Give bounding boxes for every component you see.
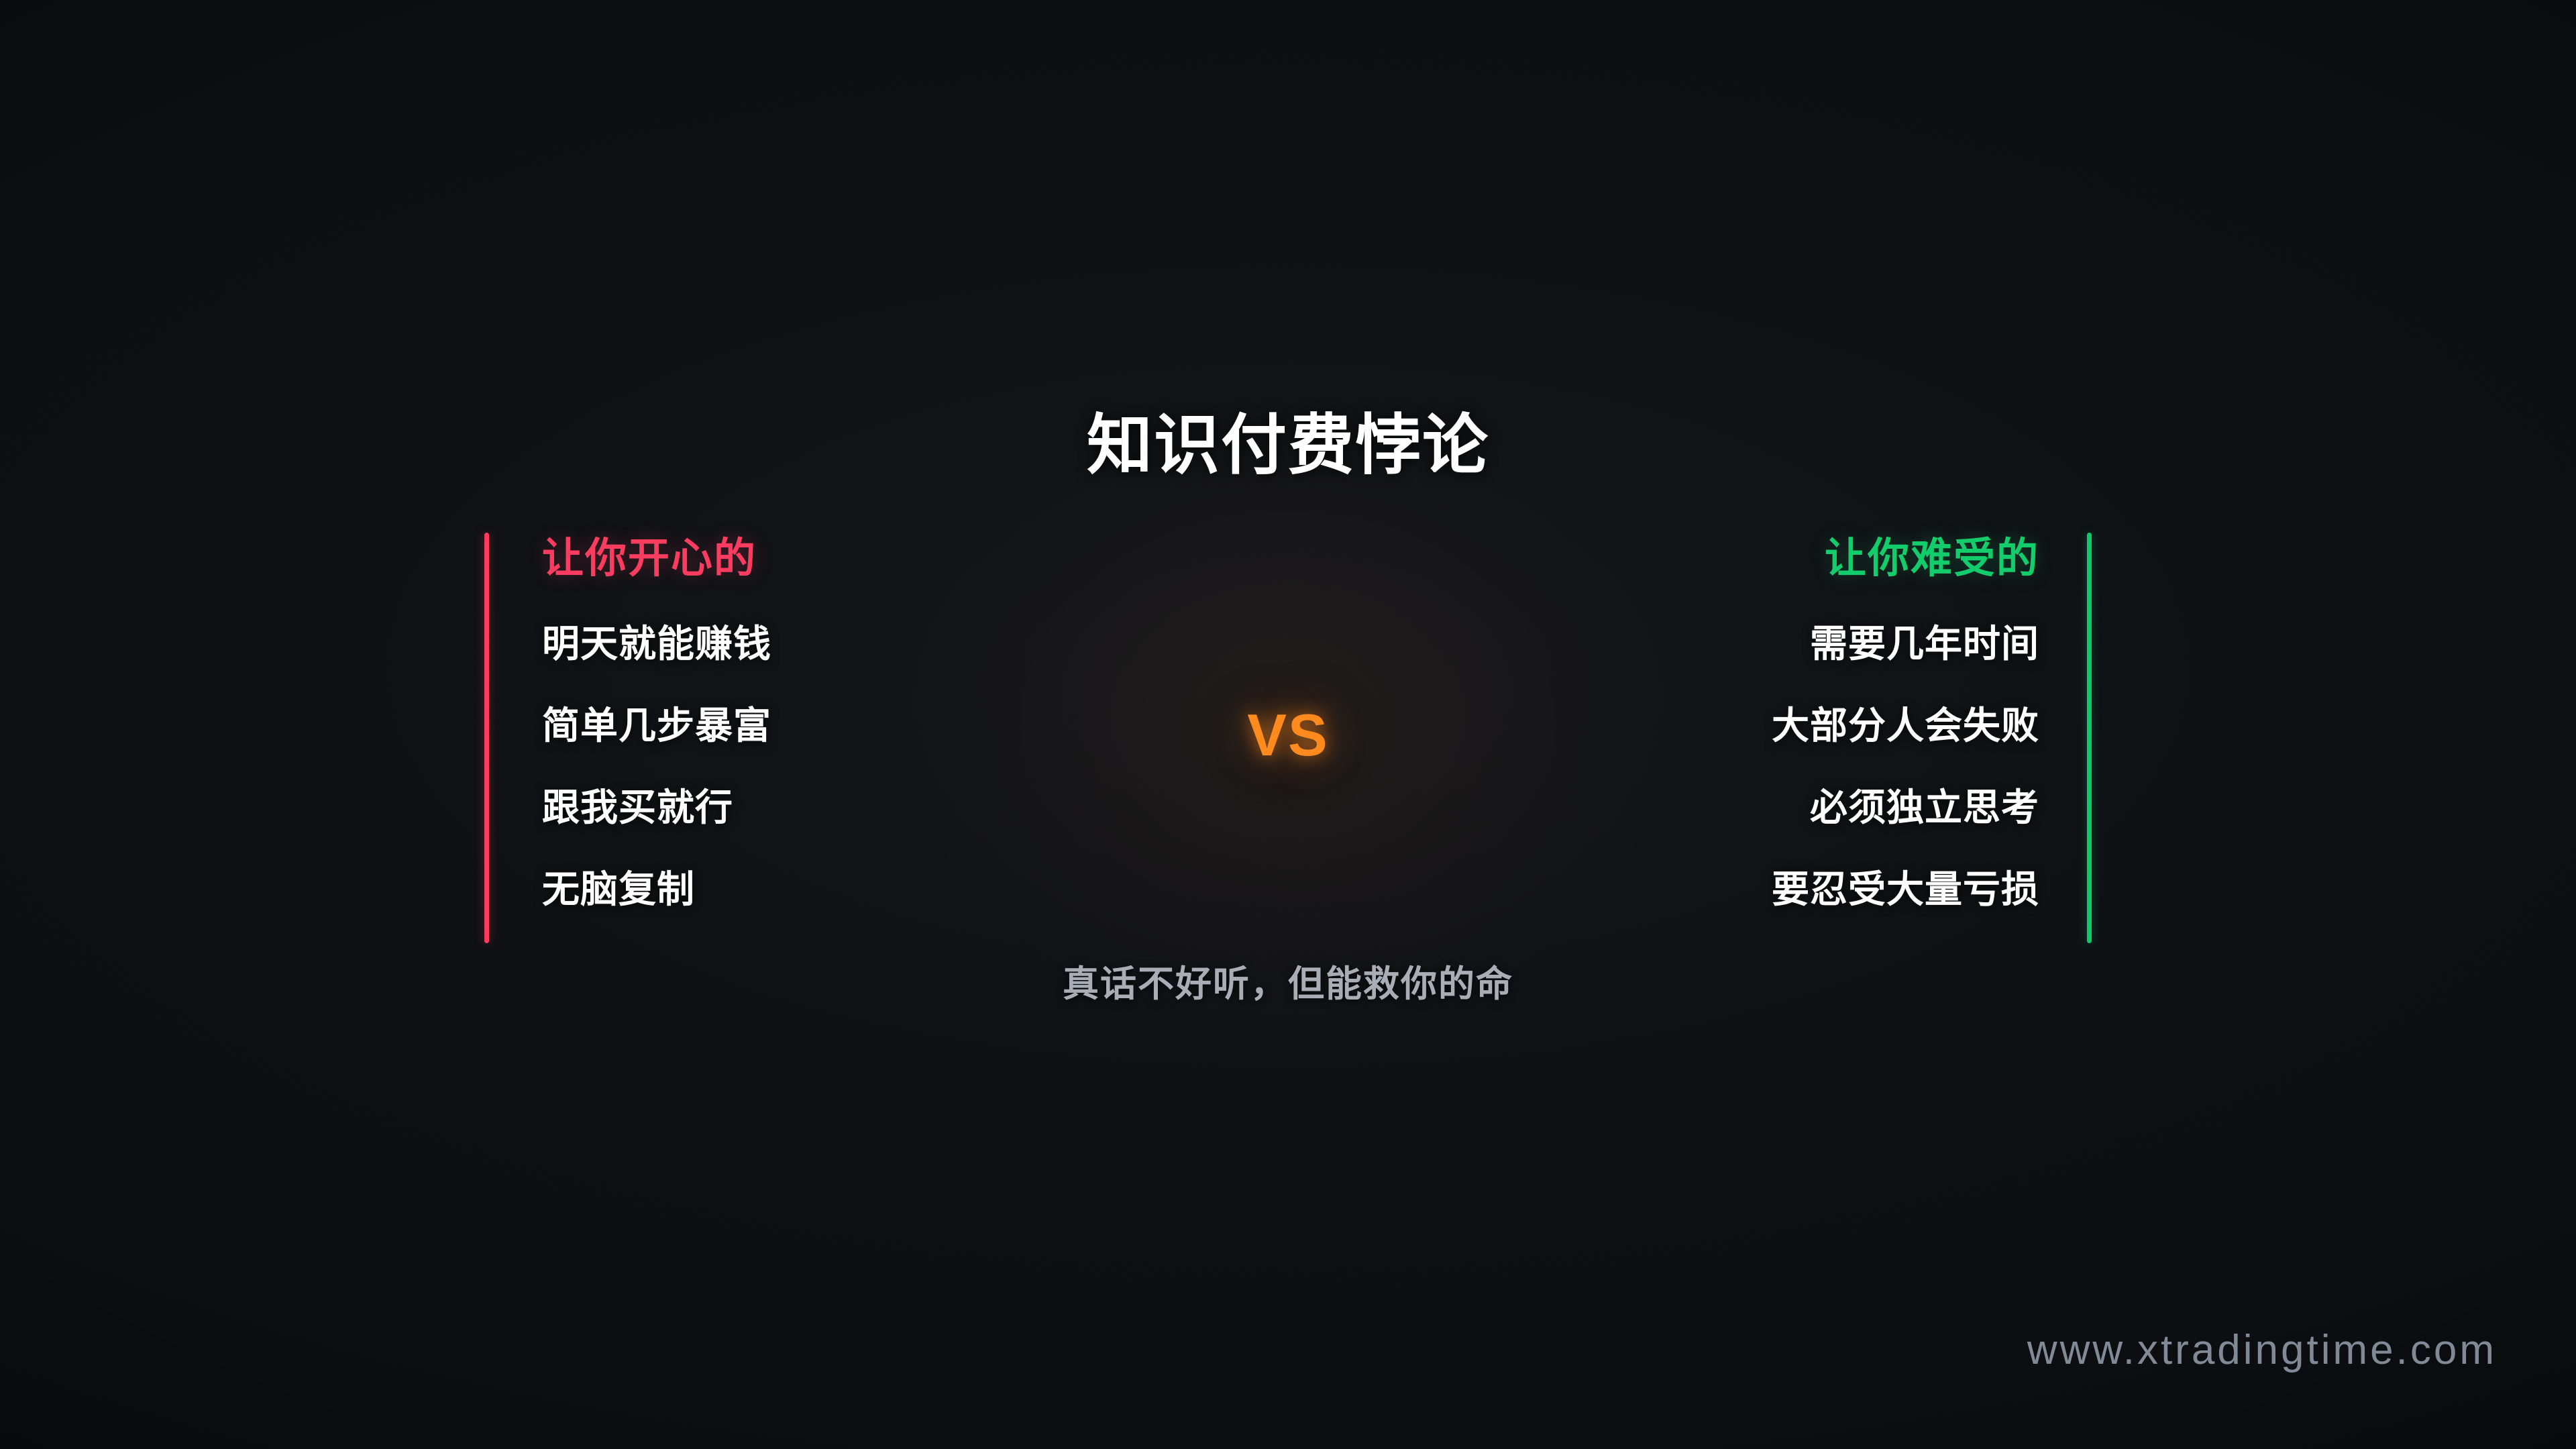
list-item: 大部分人会失败	[1583, 707, 2106, 789]
vs-badge: VS	[1247, 706, 1328, 765]
list-item: 需要几年时间	[1583, 625, 2106, 707]
list-item: 必须独立思考	[1583, 789, 2106, 871]
list-item: 要忍受大量亏损	[1583, 871, 2106, 953]
list-item: 明天就能赚钱	[470, 625, 993, 707]
list-item: 无脑复制	[470, 871, 993, 953]
site-watermark: www.xtradingtime.com	[2027, 1330, 2497, 1371]
left-column-header: 让你开心的	[542, 538, 757, 580]
slide-caption: 真话不好听，但能救你的命	[0, 966, 2576, 1002]
slide-title: 知识付费悖论	[0, 411, 2576, 480]
right-column-list: 需要几年时间 大部分人会失败 必须独立思考 要忍受大量亏损	[1583, 625, 2106, 953]
right-column-header: 让你难受的	[1825, 538, 2039, 580]
right-column: 让你难受的 需要几年时间 大部分人会失败 必须独立思考 要忍受大量亏损	[1583, 523, 2106, 953]
left-column-list: 明天就能赚钱 简单几步暴富 跟我买就行 无脑复制	[470, 625, 993, 953]
list-item: 跟我买就行	[470, 789, 993, 871]
list-item: 简单几步暴富	[470, 707, 993, 789]
left-column: 让你开心的 明天就能赚钱 简单几步暴富 跟我买就行 无脑复制	[470, 523, 993, 953]
slide-canvas: 知识付费悖论 让你开心的 明天就能赚钱 简单几步暴富 跟我买就行 无脑复制 让你…	[0, 0, 2576, 1449]
